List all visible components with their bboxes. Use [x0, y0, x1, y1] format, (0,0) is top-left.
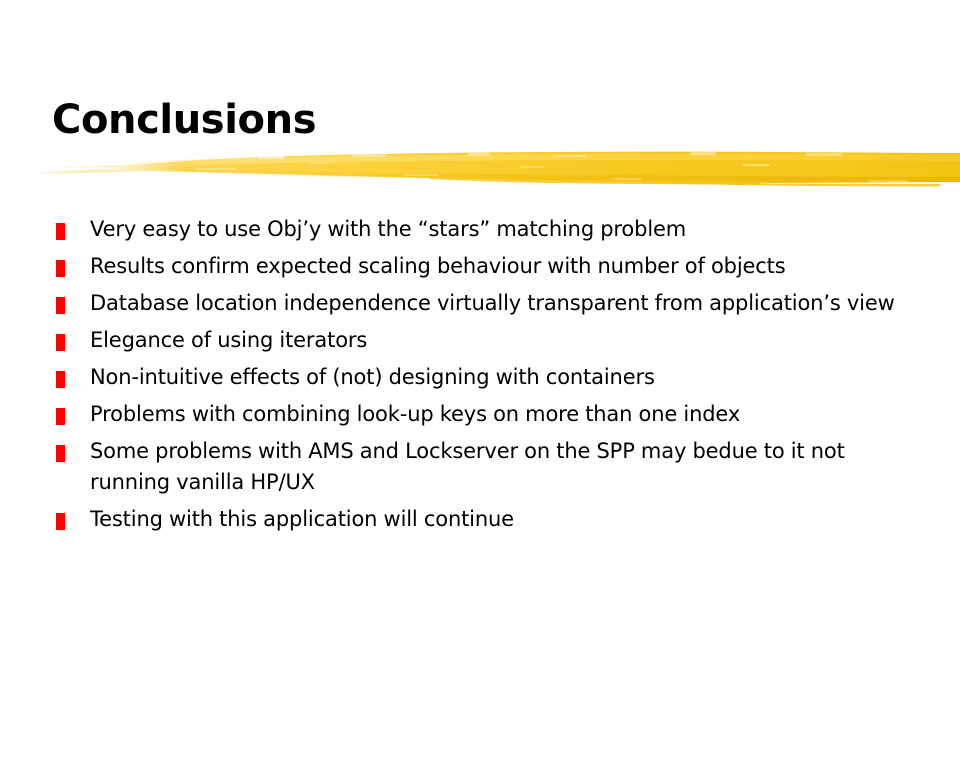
bullet-marker-icon: [56, 513, 65, 530]
bullet-text: Database location independence virtually…: [90, 288, 926, 319]
list-item: Non-intuitive effects of (not) designing…: [56, 362, 926, 393]
list-item: Results confirm expected scaling behavio…: [56, 251, 926, 282]
bullet-marker-icon: [56, 260, 65, 277]
list-item: Database location independence virtually…: [56, 288, 926, 319]
list-item: Problems with combining look-up keys on …: [56, 399, 926, 430]
bullet-marker-icon: [56, 371, 65, 388]
brushstroke-icon: [0, 138, 960, 194]
bullet-text: Elegance of using iterators: [90, 325, 926, 356]
bullet-marker-icon: [56, 223, 65, 240]
bullet-text: Some problems with AMS and Lockserver on…: [90, 436, 926, 498]
bullet-text: Very easy to use Obj’y with the “stars” …: [90, 214, 926, 245]
list-item: Some problems with AMS and Lockserver on…: [56, 436, 926, 498]
bullet-text: Results confirm expected scaling behavio…: [90, 251, 926, 282]
bullet-text: Non-intuitive effects of (not) designing…: [90, 362, 926, 393]
list-item: Testing with this application will conti…: [56, 504, 926, 535]
bullet-list: Very easy to use Obj’y with the “stars” …: [56, 214, 926, 541]
brushstroke-divider: [0, 138, 960, 194]
bullet-text: Problems with combining look-up keys on …: [90, 399, 926, 430]
list-item: Very easy to use Obj’y with the “stars” …: [56, 214, 926, 245]
bullet-marker-icon: [56, 408, 65, 425]
presentation-slide: Conclusions: [0, 0, 960, 768]
bullet-text: Testing with this application will conti…: [90, 504, 926, 535]
bullet-marker-icon: [56, 445, 65, 462]
list-item: Elegance of using iterators: [56, 325, 926, 356]
bullet-marker-icon: [56, 334, 65, 351]
page-title: Conclusions: [52, 97, 316, 143]
bullet-marker-icon: [56, 297, 65, 314]
